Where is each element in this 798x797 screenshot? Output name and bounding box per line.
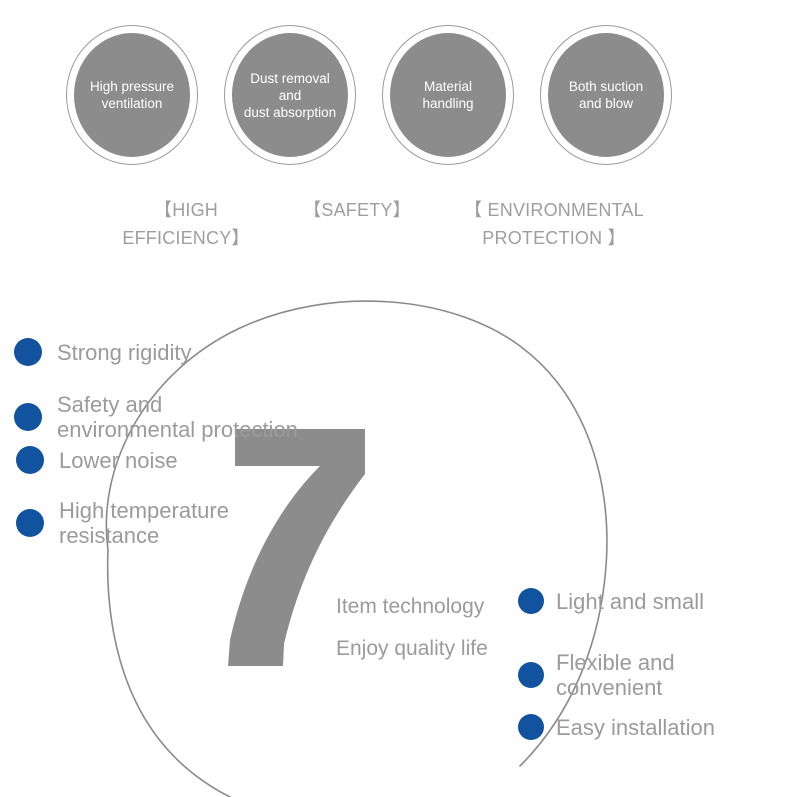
bullet-dot-icon <box>518 588 544 614</box>
ring-diagram: Item technology Enjoy quality life Stron… <box>0 266 798 797</box>
feature-caption-environmental-protection: 【 ENVIRONMENTAL PROTECTION 】 <box>434 196 674 252</box>
feature-circle-label: Material handling <box>414 78 481 112</box>
feature-circle-high-pressure-ventilation[interactable]: High pressure ventilation <box>66 25 198 165</box>
bullet-item-safety-environmental[interactable]: Safety and environmental protection <box>14 392 298 442</box>
bullet-dot-icon <box>16 509 44 537</box>
feature-circle-label: Dust removal and dust absorption <box>232 70 348 121</box>
bullet-item-high-temperature-resistance[interactable]: High temperature resistance <box>16 498 229 548</box>
bullet-label: Light and small <box>556 589 704 614</box>
bullet-item-light-and-small[interactable]: Light and small <box>518 588 704 614</box>
bullet-label: Easy installation <box>556 715 715 740</box>
feature-caption-high-efficiency: 【HIGH EFFICIENCY】 <box>86 196 286 252</box>
feature-caption-safety: 【SAFETY】 <box>262 196 452 224</box>
bullet-label: Strong rigidity <box>57 340 192 365</box>
feature-circle-inner: High pressure ventilation <box>74 33 190 157</box>
feature-circle-group: High pressure ventilation Dust removal a… <box>0 0 798 185</box>
feature-circle-dust-removal[interactable]: Dust removal and dust absorption <box>224 25 356 165</box>
feature-caption-group: 【HIGH EFFICIENCY】 【SAFETY】 【 ENVIRONMENT… <box>0 196 798 266</box>
feature-circle-label: Both suction and blow <box>561 78 651 112</box>
bullet-dot-icon <box>16 446 44 474</box>
bullet-label: Safety and environmental protection <box>57 392 298 442</box>
feature-circle-inner: Material handling <box>390 33 506 157</box>
bullet-label: High temperature resistance <box>59 498 229 548</box>
bullet-dot-icon <box>518 714 544 740</box>
bullet-item-lower-noise[interactable]: Lower noise <box>16 446 178 474</box>
bullet-item-strong-rigidity[interactable]: Strong rigidity <box>14 338 192 366</box>
feature-circle-inner: Dust removal and dust absorption <box>232 33 348 157</box>
tagline-line-2: Enjoy quality life <box>336 628 516 670</box>
bullet-item-easy-installation[interactable]: Easy installation <box>518 714 715 740</box>
center-tagline: Item technology Enjoy quality life <box>336 586 516 670</box>
bullet-label: Flexible and convenient <box>556 650 675 700</box>
tagline-line-1: Item technology <box>336 586 516 628</box>
bullet-dot-icon <box>14 338 42 366</box>
bullet-dot-icon <box>14 403 42 431</box>
feature-circle-suction-and-blow[interactable]: Both suction and blow <box>540 25 672 165</box>
bullet-label: Lower noise <box>59 448 178 473</box>
bullet-dot-icon <box>518 662 544 688</box>
feature-circle-label: High pressure ventilation <box>82 78 182 112</box>
feature-circle-material-handling[interactable]: Material handling <box>382 25 514 165</box>
feature-circle-inner: Both suction and blow <box>548 33 664 157</box>
bullet-item-flexible-convenient[interactable]: Flexible and convenient <box>518 650 675 700</box>
